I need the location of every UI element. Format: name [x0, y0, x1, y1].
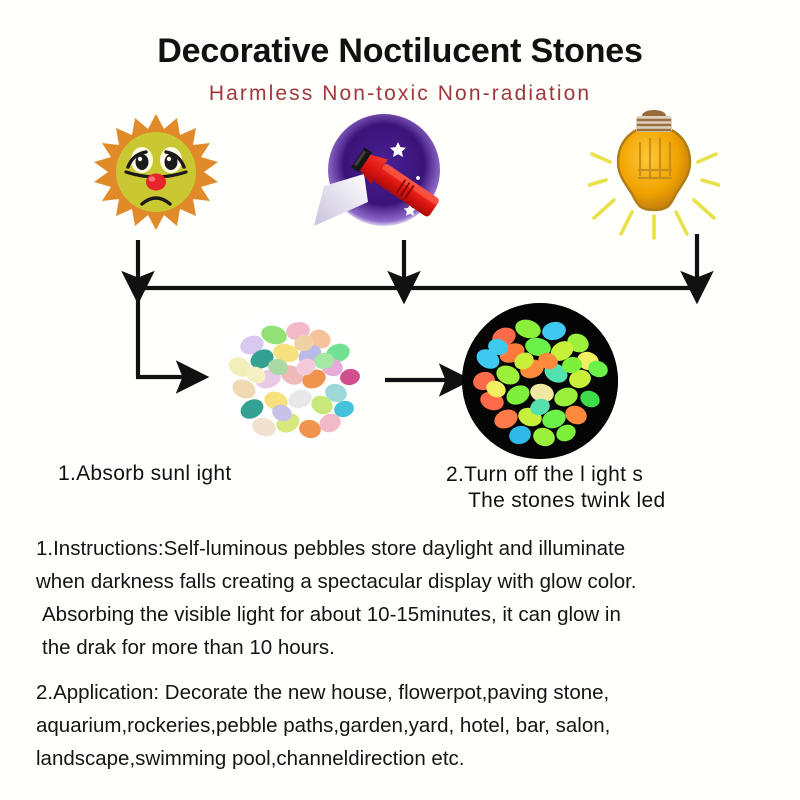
light-bulb-icon — [588, 104, 720, 244]
application-line-2: aquarium,rockeries,pebble paths,garden,y… — [36, 709, 776, 742]
instructions-line-4: the drak for more than 10 hours. — [36, 631, 776, 664]
page-subtitle: Harmless Non-toxic Non-radiation — [0, 82, 800, 106]
page-title: Decorative Noctilucent Stones — [0, 32, 800, 71]
instructions-line-2: when darkness falls creating a spectacul… — [36, 565, 776, 598]
caption-absorb-sunlight: 1.Absorb sunl ight — [58, 462, 232, 486]
application-line-1: 2.Application: Decorate the new house, f… — [36, 676, 776, 709]
application-paragraph: 2.Application: Decorate the new house, f… — [36, 676, 776, 775]
instructions-paragraph: 1.Instructions:Self-luminous pebbles sto… — [36, 532, 776, 664]
caption-line-1: 2.Turn off the l ight s — [446, 463, 643, 486]
caption-line-2: The stones twink led — [446, 488, 665, 514]
sun-icon — [92, 112, 220, 240]
bulb-base — [636, 110, 672, 132]
description-text: 1.Instructions:Self-luminous pebbles sto… — [36, 532, 776, 775]
flow-diagram — [0, 230, 800, 470]
product-infographic: Decorative Noctilucent Stones Harmless N… — [0, 0, 800, 800]
glowing-pebbles-photo — [462, 303, 618, 459]
daylight-pebbles-photo — [212, 305, 368, 457]
application-line-3: landscape,swimming pool,channeldirection… — [36, 742, 776, 775]
caption-turn-off-lights: 2.Turn off the l ight s The stones twink… — [446, 462, 665, 514]
instructions-line-3: Absorbing the visible light for about 10… — [36, 598, 776, 631]
instructions-line-1: 1.Instructions:Self-luminous pebbles sto… — [36, 532, 776, 565]
uv-flashlight-icon — [306, 108, 466, 248]
